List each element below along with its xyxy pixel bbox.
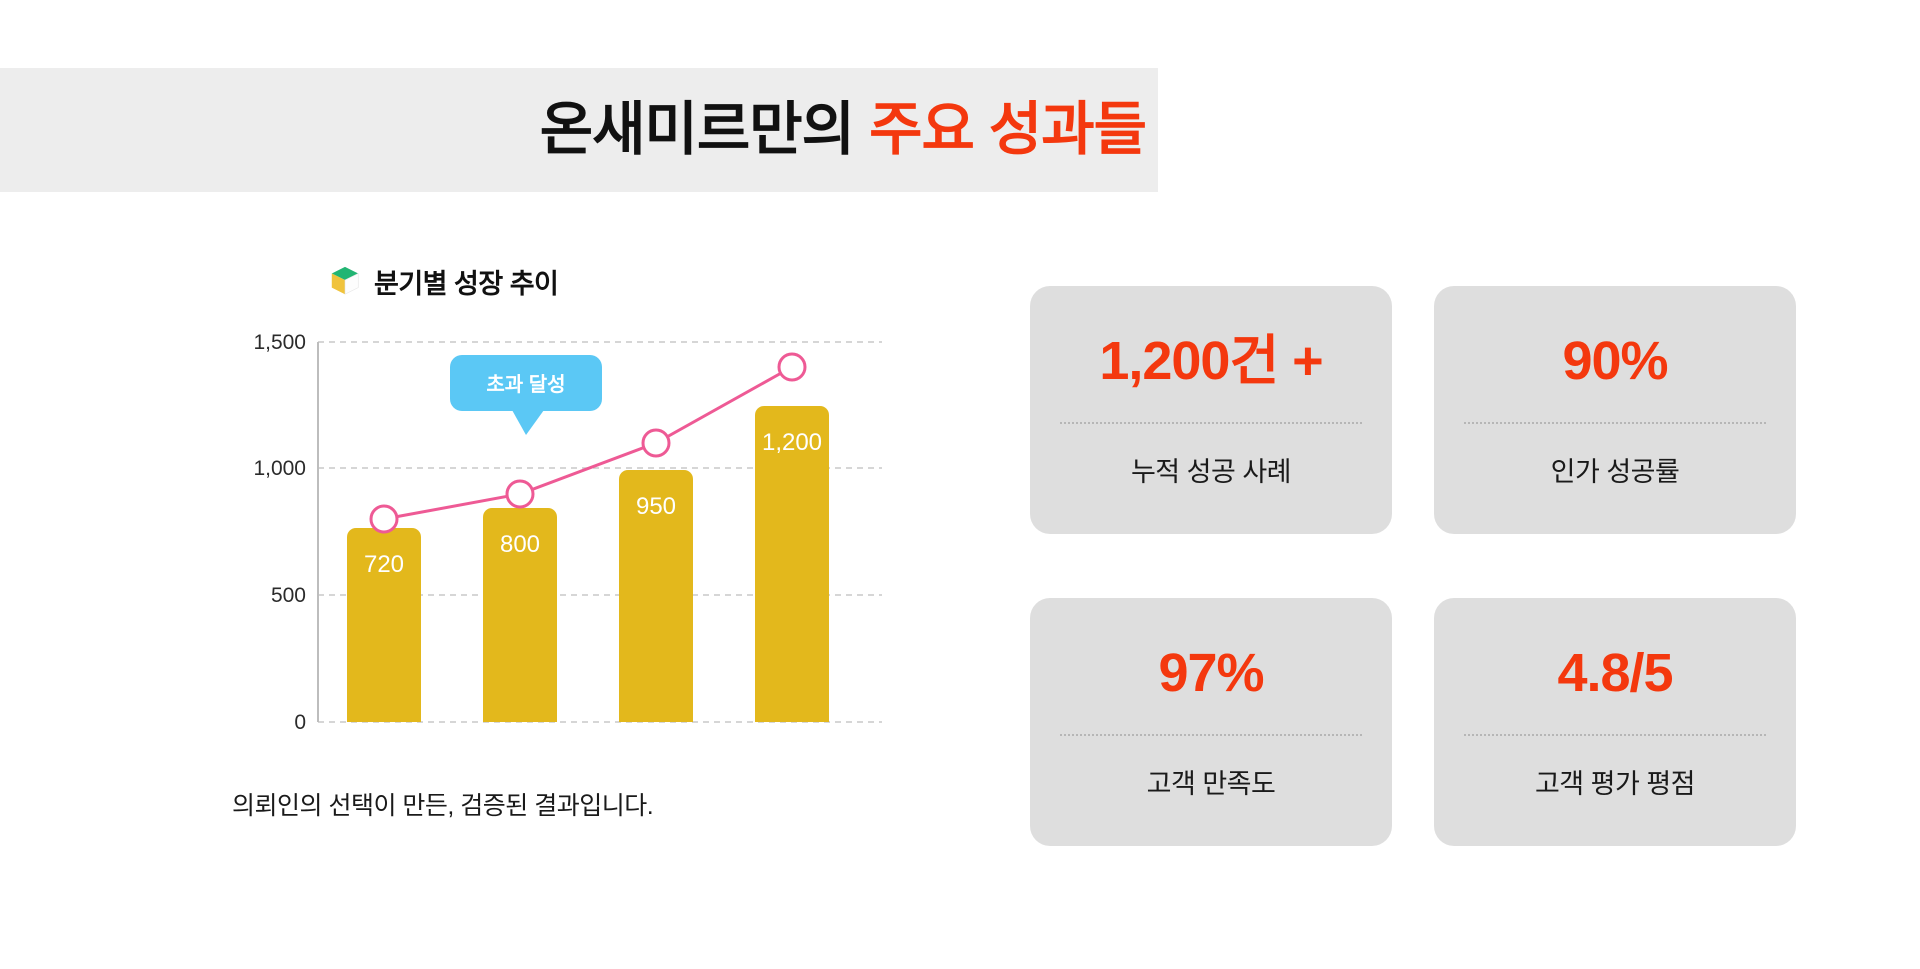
stat-card-rating[interactable]: 4.8/5 고객 평가 평점 <box>1434 598 1796 846</box>
stat-divider <box>1464 422 1766 424</box>
chart-title: 분기별 성장 추이 <box>374 262 558 301</box>
stat-label: 인가 성공률 <box>1551 450 1680 489</box>
bar-label-q3: 950 <box>636 493 676 520</box>
stat-divider <box>1060 734 1362 736</box>
chart-panel: 분기별 성장 추이 1,500 1,000 500 0 <box>222 258 942 888</box>
y-tick-0: 0 <box>294 711 306 734</box>
annotation-text: 초과 달성 <box>486 373 565 396</box>
stat-divider <box>1060 422 1362 424</box>
cube-icon <box>328 264 362 298</box>
y-tick-1500: 1,500 <box>253 331 306 354</box>
page-title-accent: 주요 성과들 <box>869 97 1146 162</box>
stat-value: 90% <box>1562 331 1667 391</box>
stat-card-approval-rate[interactable]: 90% 인가 성공률 <box>1434 286 1796 534</box>
stat-value: 4.8/5 <box>1557 643 1672 703</box>
stat-value: 1,200건 + <box>1099 331 1322 391</box>
stat-card-cumulative-cases[interactable]: 1,200건 + 누적 성공 사례 <box>1030 286 1392 534</box>
stat-label: 누적 성공 사례 <box>1131 450 1291 489</box>
chart-plot-area: 1,500 1,000 500 0 720 800 950 1,200 <box>222 322 942 752</box>
chart-annotation-callout: 초과 달성 <box>450 355 602 435</box>
page-title-main: 온새미르만의 <box>540 97 854 162</box>
bar-label-q2: 800 <box>500 531 540 558</box>
page-title: 온새미르만의 주요 성과들 <box>540 98 1146 162</box>
stat-label: 고객 만족도 <box>1147 762 1276 801</box>
y-tick-1000: 1,000 <box>253 457 306 480</box>
stat-divider <box>1464 734 1766 736</box>
header-band: 온새미르만의 주요 성과들 <box>0 68 1158 192</box>
stat-value: 97% <box>1158 643 1263 703</box>
chart-header: 분기별 성장 추이 <box>328 258 942 304</box>
chart-y-tick-labels: 1,500 1,000 500 0 <box>253 331 306 734</box>
stat-card-satisfaction[interactable]: 97% 고객 만족도 <box>1030 598 1392 846</box>
stats-grid: 1,200건 + 누적 성공 사례 90% 인가 성공률 97% 고객 만족도 … <box>1030 286 1830 846</box>
bar-label-q1: 720 <box>364 551 404 578</box>
chart-caption: 의뢰인의 선택이 만든, 검증된 결과입니다. <box>232 786 942 822</box>
bar-label-q4: 1,200 <box>762 429 822 456</box>
stat-label: 고객 평가 평점 <box>1535 762 1695 801</box>
y-tick-500: 500 <box>271 584 306 607</box>
chart-bars <box>347 406 829 722</box>
chart-bar-labels: 720 800 950 1,200 <box>364 429 822 578</box>
